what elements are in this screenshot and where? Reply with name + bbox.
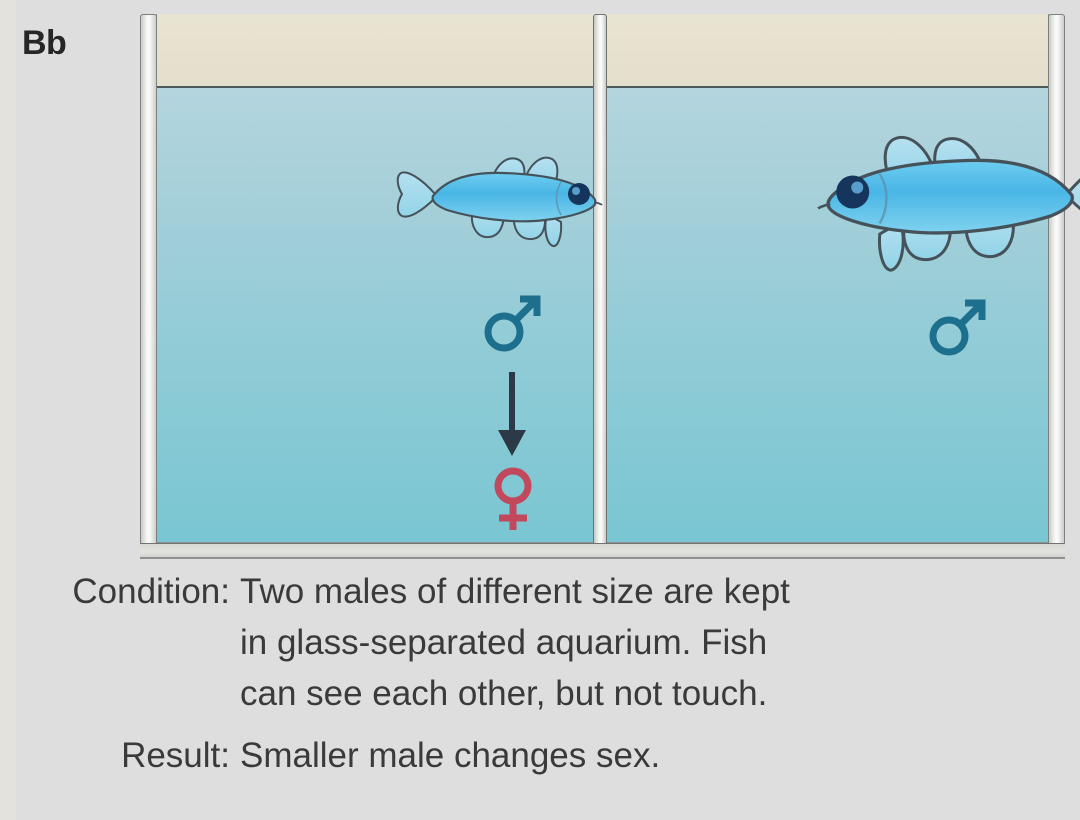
larger-male-fish-icon	[800, 114, 1080, 282]
tank-base	[140, 543, 1065, 559]
condition-line-3: can see each other, but not touch.	[240, 668, 800, 719]
female-symbol	[484, 466, 542, 534]
panel-label: Bb	[22, 24, 66, 63]
glass-divider	[593, 14, 607, 543]
aquarium-diagram	[140, 14, 1065, 559]
transition-arrow-icon	[492, 372, 532, 458]
result-line-1: Smaller male changes sex.	[240, 730, 800, 781]
male-symbol-right	[925, 296, 991, 358]
result-label: Result:	[0, 730, 240, 781]
condition-line-1: Two males of different size are kept	[240, 566, 800, 617]
caption-condition-row: Condition: Two males of different size a…	[0, 566, 1080, 719]
condition-label: Condition:	[0, 566, 240, 617]
caption-block: Condition: Two males of different size a…	[0, 566, 1080, 781]
condition-line-2: in glass-separated aquarium. Fish	[240, 617, 800, 668]
smaller-male-fish-icon	[395, 142, 610, 254]
caption-result-row: Result: Smaller male changes sex.	[0, 730, 1080, 781]
male-symbol-left	[480, 292, 546, 354]
tank-wall-left	[140, 14, 157, 543]
result-text: Smaller male changes sex.	[240, 730, 800, 781]
condition-text: Two males of different size are kept in …	[240, 566, 800, 719]
